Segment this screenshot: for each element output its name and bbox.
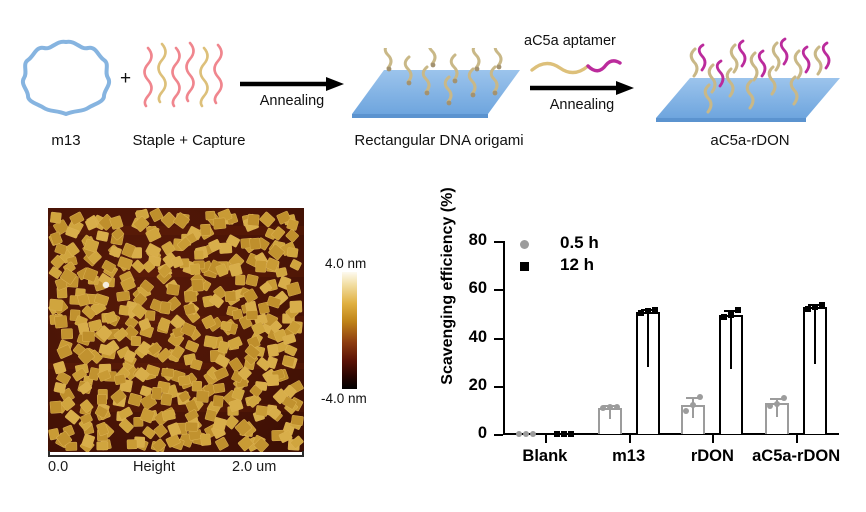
data-point	[614, 404, 620, 410]
y-tick	[494, 386, 503, 388]
legend-marker-square-icon	[520, 262, 529, 271]
legend-label-0: 0.5 h	[560, 233, 599, 253]
data-point	[728, 312, 734, 318]
schematic-label-staples: Staple + Capture	[116, 132, 262, 149]
data-point	[697, 394, 703, 400]
origami-plane-aptamer-icon	[650, 28, 850, 128]
arrow-label-2: Annealing	[528, 97, 636, 113]
data-point	[812, 304, 818, 310]
aptamer-reagent-label: aC5a aptamer	[524, 33, 616, 49]
x-group-label-ac5a-rdon: aC5a-rDON	[736, 447, 856, 466]
data-point	[652, 307, 658, 313]
data-point	[805, 306, 811, 312]
arrow-right-icon-2	[528, 80, 636, 96]
x-tick	[545, 435, 547, 443]
data-point	[607, 404, 613, 410]
afm-colorbar	[342, 272, 357, 389]
schematic-label-m13: m13	[16, 132, 116, 149]
wavy-circle-icon	[18, 38, 114, 118]
data-point	[645, 308, 651, 314]
y-tick	[494, 338, 503, 340]
y-tick-label: 80	[425, 231, 487, 250]
schematic-label-origami: Rectangular DNA origami	[348, 132, 530, 149]
origami-plane-icon	[348, 48, 530, 126]
y-tick	[494, 289, 503, 291]
x-tick	[712, 435, 714, 443]
arrow-right-icon-1	[238, 76, 346, 92]
schematic-label-product: aC5a-rDON	[650, 132, 850, 149]
legend-label-1: 12 h	[560, 255, 594, 275]
data-point	[568, 431, 574, 437]
data-point	[735, 307, 741, 313]
colorbar-max-label: 4.0 nm	[325, 256, 366, 271]
squiggle-strands-icon	[140, 36, 230, 116]
y-tick	[494, 434, 503, 436]
afm-image-canvas	[48, 208, 304, 452]
data-point	[819, 302, 825, 308]
x-tick	[629, 435, 631, 443]
y-tick-label: 20	[425, 376, 487, 395]
error-bar	[803, 304, 827, 364]
y-tick-label: 0	[425, 424, 487, 443]
data-point	[516, 431, 522, 437]
plot-area	[503, 241, 838, 434]
afm-scale-right-label: 2.0 um	[232, 459, 276, 475]
afm-scale-bar	[48, 455, 304, 457]
afm-scale-center-label: Height	[133, 459, 175, 475]
data-point	[554, 431, 560, 437]
error-bar	[636, 309, 660, 367]
synthesis-schematic: + Annealing	[0, 0, 866, 175]
data-point	[774, 401, 780, 407]
error-bar-stem	[647, 309, 649, 367]
legend-marker-circle-icon	[520, 240, 529, 249]
data-point	[721, 314, 727, 320]
x-tick	[796, 435, 798, 443]
data-point	[523, 431, 529, 437]
error-bar-stem	[730, 310, 732, 368]
y-tick-label: 40	[425, 328, 487, 347]
data-point	[530, 431, 536, 437]
arrow-label-1: Annealing	[238, 93, 346, 109]
data-point	[561, 431, 567, 437]
plus-sign: +	[120, 68, 131, 90]
y-tick-label: 60	[425, 279, 487, 298]
y-tick	[494, 241, 503, 243]
aptamer-strand-icon	[528, 58, 632, 78]
data-point	[781, 395, 787, 401]
afm-scale-left-label: 0.0	[48, 459, 68, 475]
error-bar-stem	[814, 304, 816, 364]
colorbar-min-label: -4.0 nm	[321, 391, 367, 406]
data-point	[638, 310, 644, 316]
scavenging-efficiency-chart: Scavenging efficiency (%) 020406080 Blan…	[425, 225, 866, 495]
afm-image	[48, 208, 304, 452]
